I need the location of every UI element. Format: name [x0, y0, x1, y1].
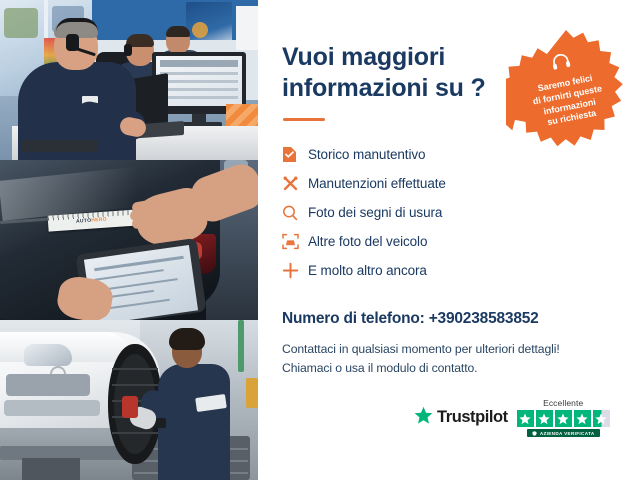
magnifier-icon [282, 202, 308, 224]
trustpilot-score-block: Eccellente [517, 398, 610, 437]
content-panel: Vuoi maggiori informazioni su ? Storico … [258, 0, 640, 480]
star-icon [536, 410, 553, 427]
feature-item-foto-segni-usura: Foto dei segni di usura [282, 198, 562, 227]
feature-item-molto-altro: E molto altro ancora [282, 256, 562, 285]
badge-content: Saremo felici di fornirti queste informa… [496, 18, 637, 159]
trustpilot-logo: Trustpilot [414, 406, 508, 430]
rating-label: Eccellente [543, 398, 583, 408]
headline-line-2: informazioni su ? [282, 73, 522, 104]
contact-subtext-line-1: Contattaci in qualsiasi momento per ulte… [282, 340, 560, 359]
verified-label: AZIENDA VERIFICATA [540, 431, 595, 436]
car-scan-icon [282, 231, 308, 253]
feature-item-altre-foto-veicolo: Altre foto del veicolo [282, 227, 562, 256]
feature-label: Foto dei segni di usura [308, 205, 442, 220]
star-icon [555, 410, 572, 427]
feature-label: E molto altro ancora [308, 263, 427, 278]
headset-icon [549, 50, 573, 78]
document-check-icon [282, 144, 308, 166]
star-icon-half [593, 410, 610, 427]
info-on-request-badge: Saremo felici di fornirti queste informa… [506, 28, 626, 148]
star-rating [517, 410, 610, 427]
star-icon [574, 410, 591, 427]
plus-icon [282, 260, 308, 282]
tools-cross-icon [282, 173, 308, 195]
headline-line-1: Vuoi maggiori [282, 42, 522, 73]
feature-label: Manutenzioni effettuate [308, 176, 446, 191]
feature-label: Altre foto del veicolo [308, 234, 427, 249]
call-center-photo [0, 0, 258, 160]
verified-shield-icon [532, 431, 537, 436]
page-title: Vuoi maggiori informazioni su ? [282, 42, 522, 103]
title-divider [283, 118, 325, 121]
star-icon [414, 406, 433, 430]
feature-label: Storico manutentivo [308, 147, 425, 162]
trustpilot-rating[interactable]: Trustpilot Eccellente [414, 398, 610, 437]
badge-text: Saremo felici di fornirti queste informa… [517, 69, 620, 134]
feature-list: Storico manutentivo Manutenzioni effettu… [282, 140, 562, 285]
promo-banner: AUTOHERO [0, 0, 640, 480]
phone-number[interactable]: Numero di telefono: +390238583852 [282, 310, 539, 328]
feature-item-manutenzioni-effettuate: Manutenzioni effettuate [282, 169, 562, 198]
photo-strip: AUTOHERO [0, 0, 258, 480]
contact-subtext: Contattaci in qualsiasi momento per ulte… [282, 340, 560, 378]
star-icon [517, 410, 534, 427]
inspection-photo: AUTOHERO [0, 160, 258, 320]
trustpilot-wordmark: Trustpilot [437, 408, 508, 427]
verified-badge: AZIENDA VERIFICATA [527, 429, 600, 437]
contact-subtext-line-2: Chiamaci o usa il modulo di contatto. [282, 359, 560, 378]
workshop-photo [0, 320, 258, 480]
